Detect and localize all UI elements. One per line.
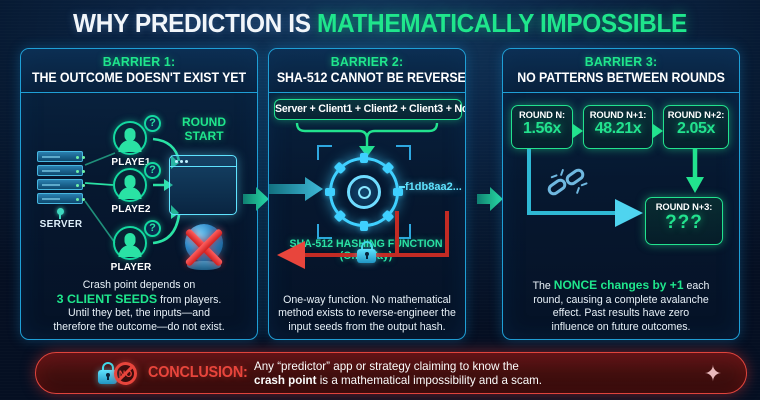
barrier-1-caption: Crash point depends on 3 CLIENT SEEDS fr… <box>27 279 251 334</box>
barrier-3-label: BARRIER 3: <box>509 54 733 69</box>
round-window-icon <box>169 155 237 215</box>
conclusion-banner: NO CONCLUSION: Any “predictor” app or st… <box>35 352 747 394</box>
player-avatar-icon <box>113 168 147 202</box>
round-start-label: ROUND START <box>161 115 247 143</box>
player-avatar-icon <box>113 226 147 260</box>
question-bubble-icon: ? <box>144 115 161 132</box>
barrier-1-heading: THE OUTCOME DOESN'T EXIST YET <box>30 70 247 85</box>
barrier-3-body: ROUND N: 1.56x ROUND N+1: 48.21x ROUND N… <box>503 93 739 340</box>
hash-input-formula: Server + Client1 + Client2 + Client3 + N… <box>274 99 462 120</box>
barrier-2-body: Server + Client1 + Client2 + Client3 + N… <box>269 93 465 340</box>
player-3-label: PLAYER <box>103 262 159 273</box>
connector-arrow-1-icon <box>243 186 269 212</box>
conclusion-label: CONCLUSION: <box>148 364 248 382</box>
hash-output-value: f1db8aa2... <box>405 181 462 193</box>
broken-chain-icon <box>547 165 591 205</box>
loopback-arrow-icon <box>503 147 740 267</box>
barrier-3-panel: BARRIER 3: NO PATTERNS BETWEEN ROUNDS RO… <box>502 48 740 340</box>
input-arrow-icon <box>269 177 325 201</box>
barrier-2-label: BARRIER 2: <box>274 54 460 69</box>
sparkle-icon: ✦ <box>702 363 724 385</box>
player-2: ? PLAYE2 <box>113 168 153 202</box>
title-part-2: MATHEMATICALLY IMPOSSIBLE <box>317 8 687 38</box>
conclusion-text: Any “predictor” app or strategy claiming… <box>254 360 694 389</box>
crystal-ball-crossed-icon <box>181 224 227 270</box>
question-bubble-icon: ? <box>144 220 161 237</box>
title-part-1: WHY PREDICTION IS <box>73 8 311 38</box>
barrier-2-header: BARRIER 2: SHA-512 CANNOT BE REVERSED <box>269 49 465 93</box>
barrier-1-header: BARRIER 1: THE OUTCOME DOESN'T EXIST YET <box>21 49 257 93</box>
barrier-3-heading: NO PATTERNS BETWEEN ROUNDS <box>512 70 729 85</box>
lock-icon <box>357 241 376 263</box>
barrier-2-caption: One-way function. No mathematical method… <box>275 294 459 334</box>
player-3: ? PLAYER <box>113 226 153 260</box>
barrier-3-header: BARRIER 3: NO PATTERNS BETWEEN ROUNDS <box>503 49 739 93</box>
page-title: WHY PREDICTION IS MATHEMATICALLY IMPOSSI… <box>23 8 737 38</box>
barrier-1-label: BARRIER 1: <box>27 54 251 69</box>
barrier-1-body: SERVER ? PLAYE1 ? PLAYE <box>21 93 257 340</box>
connector-arrow-2-icon <box>477 186 503 212</box>
barrier-1-panel: BARRIER 1: THE OUTCOME DOESN'T EXIST YET… <box>20 48 258 340</box>
barrier-3-caption: The NONCE changes by +1 each round, caus… <box>509 279 733 334</box>
barrier-2-panel: BARRIER 2: SHA-512 CANNOT BE REVERSED Se… <box>268 48 466 340</box>
barrier-2-heading: SHA-512 CANNOT BE REVERSED <box>277 70 457 85</box>
prohibition-icon: NO <box>114 362 137 385</box>
player-avatar-icon <box>113 121 147 155</box>
player-2-label: PLAYE2 <box>103 204 159 215</box>
player-1: ? PLAYE1 <box>113 121 153 155</box>
question-bubble-icon: ? <box>144 162 161 179</box>
